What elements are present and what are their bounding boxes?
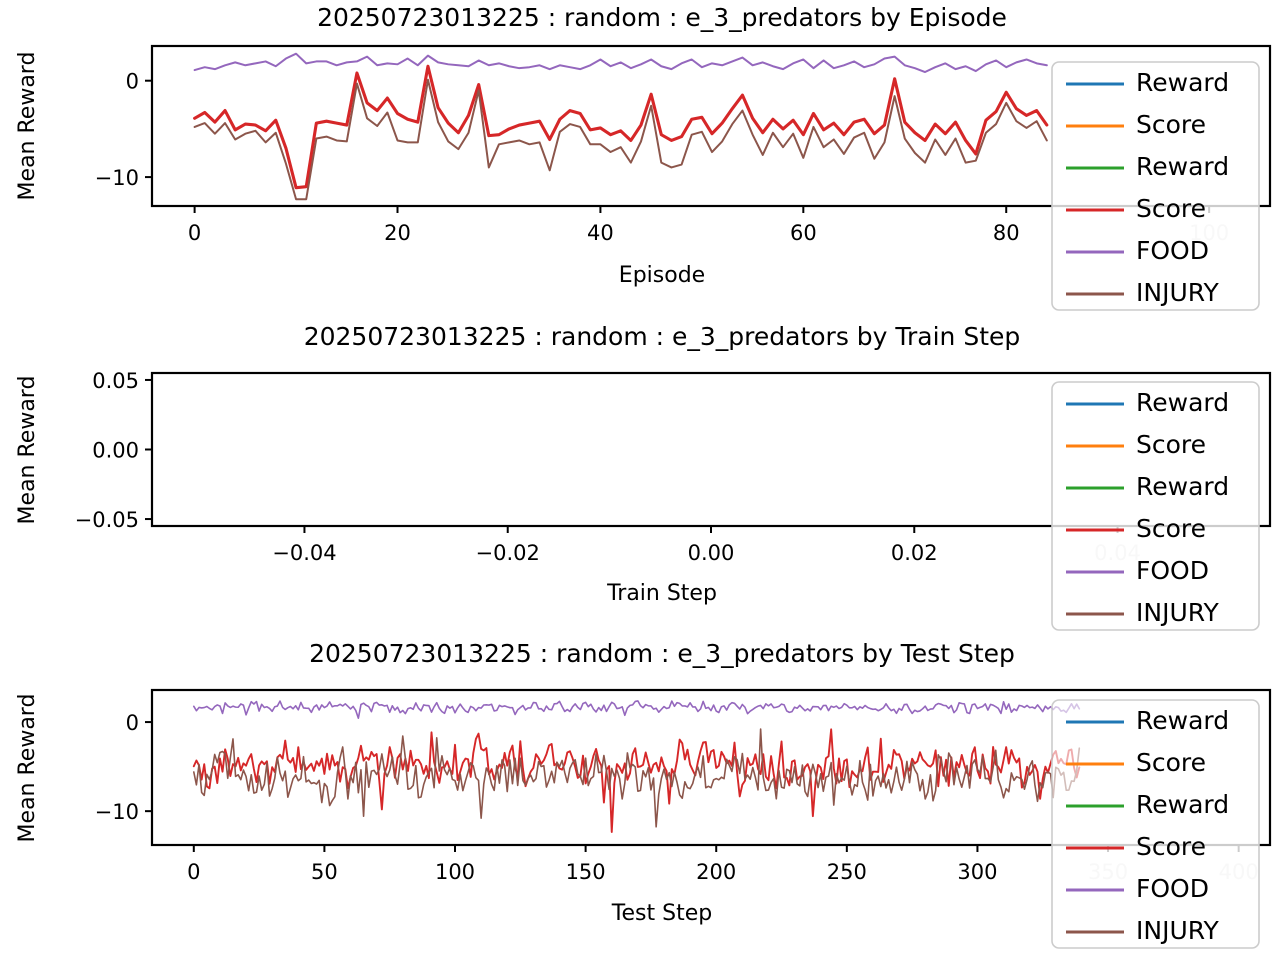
y-tick-label: −10	[95, 800, 139, 824]
x-tick-label: 0	[188, 221, 201, 245]
series-line-score-d62728	[195, 66, 1047, 187]
legend-reward-green-label[interactable]: Reward	[1136, 790, 1229, 819]
chart-svg: 20250723013225 : random : e_3_predators …	[0, 640, 1280, 960]
chart-legend[interactable]: RewardScoreRewardScoreFOODINJURY	[194, 700, 1259, 948]
y-tick-label: 0	[126, 70, 139, 94]
y-tick-label: −0.05	[75, 508, 139, 532]
x-tick-label: −0.02	[476, 541, 540, 565]
x-tick-label: 0	[187, 860, 200, 884]
chart-legend[interactable]: RewardScoreRewardScoreFOODINJURY	[1052, 382, 1259, 630]
y-tick-label: 0.05	[92, 369, 139, 393]
x-axis-label: Test Step	[611, 901, 712, 926]
legend-food-purple-label[interactable]: FOOD	[1136, 556, 1209, 585]
x-tick-label: 50	[311, 860, 338, 884]
legend-food-purple-label[interactable]: FOOD	[1136, 236, 1209, 265]
x-tick-label: 250	[827, 860, 867, 884]
x-tick-label: 150	[566, 860, 606, 884]
series-line-injury-8c564b	[194, 729, 1080, 827]
y-tick-label: −10	[95, 166, 139, 190]
y-tick-label: 0	[126, 711, 139, 735]
series-line-injury-8c564b	[195, 80, 1047, 200]
legend-reward-blue-label[interactable]: Reward	[1136, 68, 1229, 97]
series-line-food-9467bd	[195, 54, 1047, 72]
legend-reward-blue-label[interactable]: Reward	[1136, 706, 1229, 735]
y-axis-label: Mean Reward	[15, 694, 40, 843]
y-tick-label: 0.00	[92, 439, 139, 463]
legend-score-orange-label[interactable]: Score	[1136, 430, 1206, 459]
chart-panel-train-step: 20250723013225 : random : e_3_predators …	[0, 320, 1280, 640]
legend-injury-brown-label[interactable]: INJURY	[1136, 598, 1220, 627]
legend-reward-green-label[interactable]: Reward	[1136, 152, 1229, 181]
x-tick-label: 100	[435, 860, 475, 884]
legend-score-red-label[interactable]: Score	[1136, 832, 1206, 861]
chart-title: 20250723013225 : random : e_3_predators …	[304, 322, 1021, 351]
legend-food-purple-label[interactable]: FOOD	[1136, 874, 1209, 903]
legend-ghost-overlay	[195, 54, 1047, 200]
legend-score-orange-label[interactable]: Score	[1136, 748, 1206, 777]
x-tick-label: 300	[957, 860, 997, 884]
data-lines	[194, 701, 1080, 832]
legend-reward-blue-label[interactable]: Reward	[1136, 388, 1229, 417]
legend-reward-green-label[interactable]: Reward	[1136, 472, 1229, 501]
legend-frame	[1052, 62, 1259, 310]
legend-injury-brown-label[interactable]: INJURY	[1136, 278, 1220, 307]
legend-frame	[1052, 700, 1259, 948]
legend-score-orange-label[interactable]: Score	[1136, 110, 1206, 139]
x-tick-label: 0.02	[891, 541, 938, 565]
x-tick-label: 40	[587, 221, 614, 245]
x-axis-label: Train Step	[606, 581, 717, 606]
x-axis-label: Episode	[619, 263, 705, 288]
chart-panel-episode: 20250723013225 : random : e_3_predators …	[0, 0, 1280, 320]
legend-score-red-label[interactable]: Score	[1136, 194, 1206, 223]
chart-title: 20250723013225 : random : e_3_predators …	[317, 3, 1007, 32]
x-tick-label: 0.00	[688, 541, 735, 565]
chart-svg: 20250723013225 : random : e_3_predators …	[0, 320, 1280, 640]
chart-panel-test-step: 20250723013225 : random : e_3_predators …	[0, 640, 1280, 960]
x-tick-label: 80	[993, 221, 1020, 245]
matplotlib-figure: 20250723013225 : random : e_3_predators …	[0, 0, 1280, 960]
chart-title: 20250723013225 : random : e_3_predators …	[309, 640, 1015, 668]
chart-svg: 20250723013225 : random : e_3_predators …	[0, 0, 1280, 320]
legend-injury-brown-label[interactable]: INJURY	[1136, 916, 1220, 945]
x-tick-label: 20	[384, 221, 411, 245]
series-line-food-9467bd	[194, 701, 1080, 718]
legend-frame	[1052, 382, 1259, 630]
y-axis-label: Mean Reward	[15, 52, 40, 201]
legend-score-red-label[interactable]: Score	[1136, 514, 1206, 543]
y-axis-label: Mean Reward	[15, 376, 40, 525]
x-tick-label: 200	[696, 860, 736, 884]
x-tick-label: 60	[790, 221, 817, 245]
data-lines	[195, 54, 1047, 200]
x-tick-label: −0.04	[272, 541, 336, 565]
